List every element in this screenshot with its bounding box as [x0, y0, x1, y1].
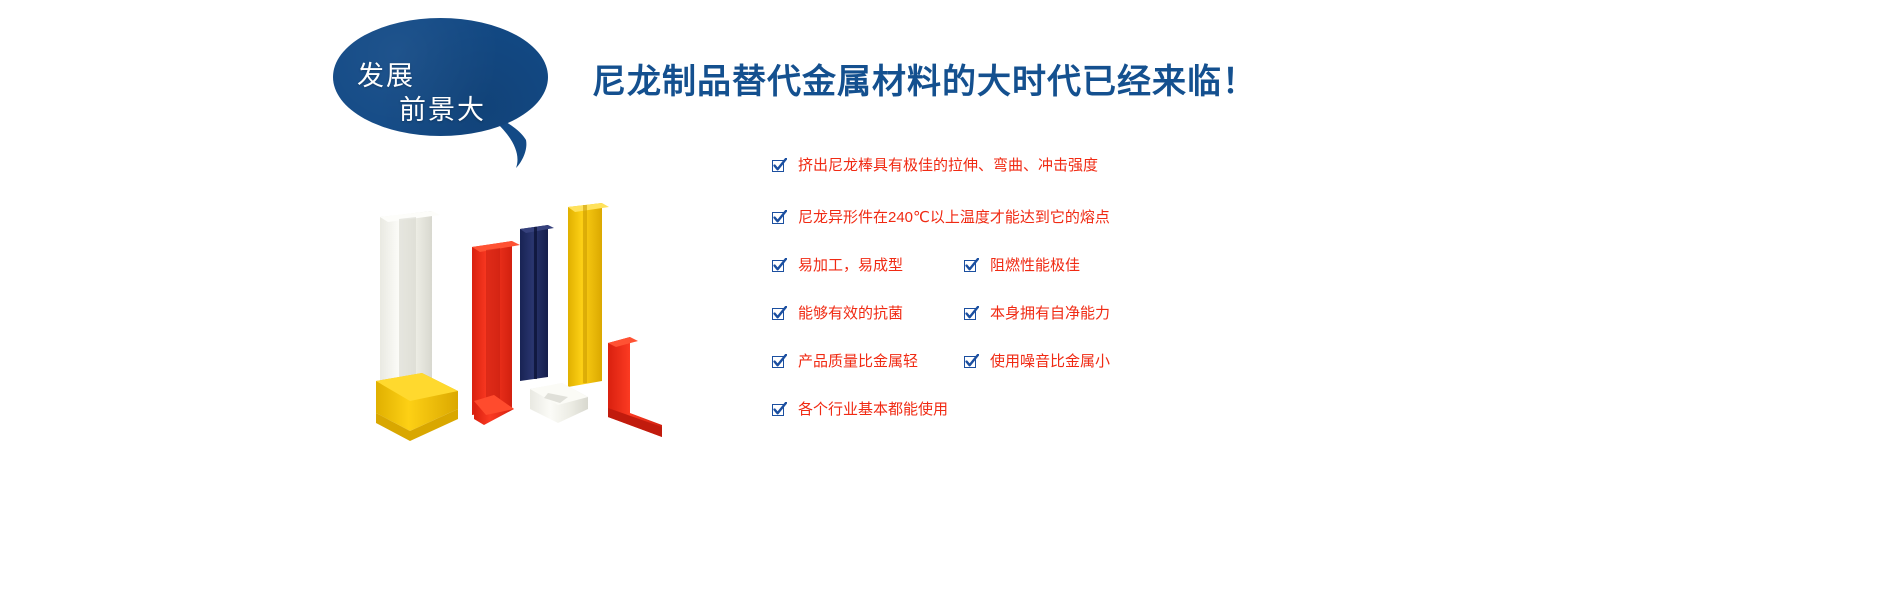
speech-bubble: 发展 前景大 [333, 18, 548, 163]
feature-item: 产品质量比金属轻 [772, 354, 918, 369]
feature-row: 易加工，易成型 阻燃性能极佳 [772, 258, 1492, 282]
product-image [362, 195, 692, 455]
feature-label: 各个行业基本都能使用 [798, 402, 948, 417]
feature-item: 易加工，易成型 [772, 258, 903, 273]
feature-label: 产品质量比金属轻 [798, 354, 918, 369]
feature-label: 阻燃性能极佳 [990, 258, 1080, 273]
feature-row: 能够有效的抗菌 本身拥有自净能力 [772, 306, 1492, 330]
feature-list: 挤出尼龙棒具有极佳的拉伸、弯曲、冲击强度 尼龙异形件在240℃以上温度才能达到它… [772, 158, 1492, 433]
feature-label: 能够有效的抗菌 [798, 306, 903, 321]
checkbox-checked-icon [772, 158, 787, 173]
feature-item: 阻燃性能极佳 [964, 258, 1080, 273]
feature-label: 本身拥有自净能力 [990, 306, 1110, 321]
checkbox-checked-icon [772, 402, 787, 417]
feature-item: 本身拥有自净能力 [964, 306, 1110, 321]
checkbox-checked-icon [964, 354, 979, 369]
feature-item: 使用噪音比金属小 [964, 354, 1110, 369]
promo-banner: 发展 前景大 尼龙制品替代金属材料的大时代已经来临！ [0, 0, 1902, 592]
feature-item: 尼龙异形件在240℃以上温度才能达到它的熔点 [772, 210, 1110, 225]
feature-item: 挤出尼龙棒具有极佳的拉伸、弯曲、冲击强度 [772, 158, 1098, 173]
feature-item: 能够有效的抗菌 [772, 306, 903, 321]
feature-row: 各个行业基本都能使用 [772, 402, 1492, 426]
feature-row: 挤出尼龙棒具有极佳的拉伸、弯曲、冲击强度 [772, 158, 1492, 182]
feature-label: 挤出尼龙棒具有极佳的拉伸、弯曲、冲击强度 [798, 158, 1098, 173]
checkbox-checked-icon [964, 258, 979, 273]
checkbox-checked-icon [772, 306, 787, 321]
page-title: 尼龙制品替代金属材料的大时代已经来临！ [592, 54, 1257, 103]
checkbox-checked-icon [772, 258, 787, 273]
feature-row: 产品质量比金属轻 使用噪音比金属小 [772, 354, 1492, 378]
feature-row: 尼龙异形件在240℃以上温度才能达到它的熔点 [772, 210, 1492, 234]
feature-item: 各个行业基本都能使用 [772, 402, 948, 417]
checkbox-checked-icon [964, 306, 979, 321]
feature-label: 尼龙异形件在240℃以上温度才能达到它的熔点 [798, 210, 1110, 225]
bubble-line-2: 前景大 [399, 88, 486, 127]
feature-label: 易加工，易成型 [798, 258, 903, 273]
checkbox-checked-icon [772, 354, 787, 369]
feature-label: 使用噪音比金属小 [990, 354, 1110, 369]
checkbox-checked-icon [772, 210, 787, 225]
